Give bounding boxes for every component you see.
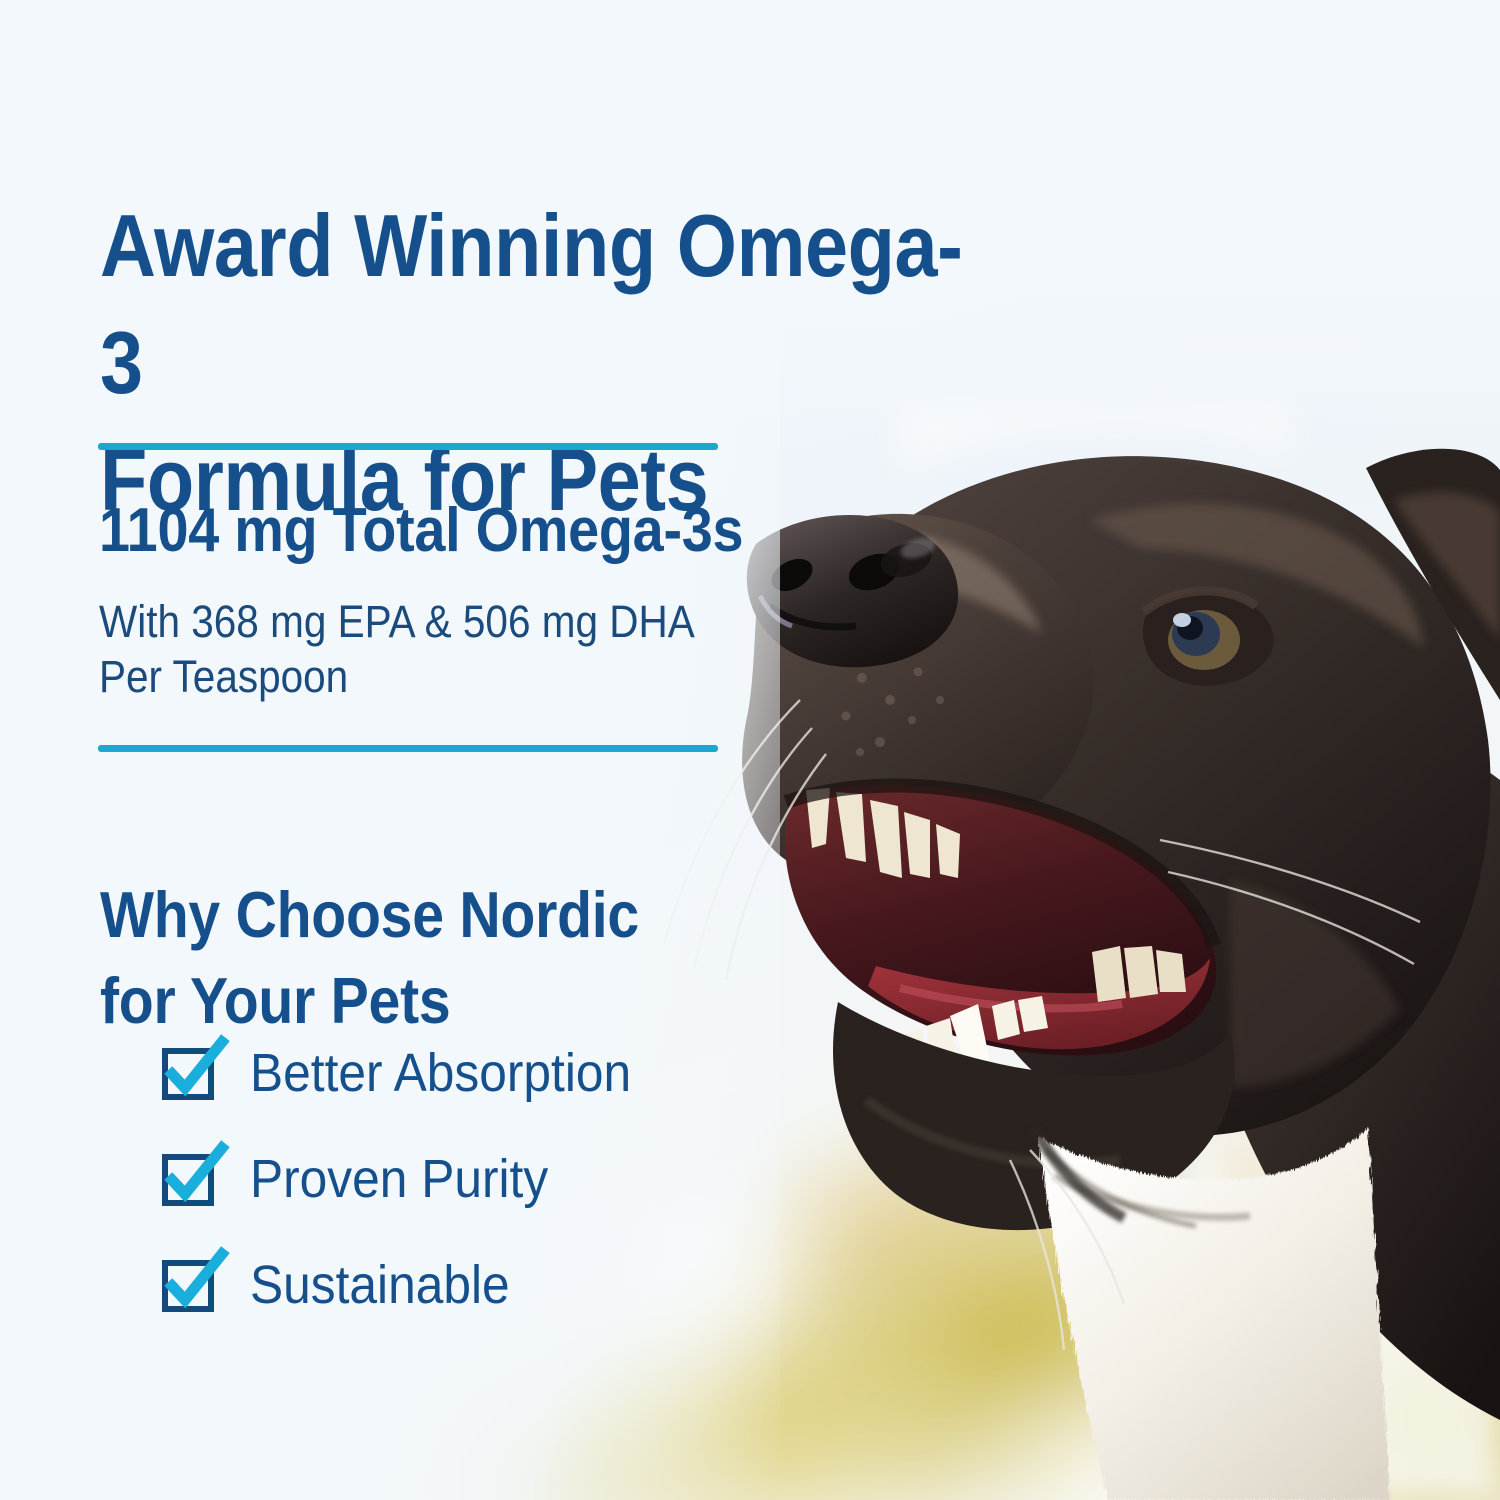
omega-detail-text: With 368 mg EPA & 506 mg DHA Per Teaspoo… [99,595,729,705]
list-item: Better Absorption [162,1038,664,1108]
omega-total-value: 1104 mg Total Omega-3s [99,495,743,566]
section-title-why-nordic: Why Choose Nordic for Your Pets [100,872,769,1044]
page-title: Award Winning Omega-3 Formula for Pets [100,187,989,538]
benefit-label: Better Absorption [250,1046,631,1100]
divider-top [98,443,718,450]
benefit-label: Proven Purity [250,1152,548,1206]
checkbox-checked-icon [162,1044,220,1102]
copy-block: Award Winning Omega-3 Formula for Pets 1… [0,0,1500,1500]
list-item: Sustainable [162,1250,664,1320]
list-item: Proven Purity [162,1144,664,1214]
benefits-list: Better Absorption Proven Purity [162,1038,664,1320]
product-marketing-panel: Award Winning Omega-3 Formula for Pets 1… [0,0,1500,1500]
benefit-label: Sustainable [250,1258,510,1312]
divider-bottom [98,745,718,752]
checkbox-checked-icon [162,1256,220,1314]
checkbox-checked-icon [162,1150,220,1208]
